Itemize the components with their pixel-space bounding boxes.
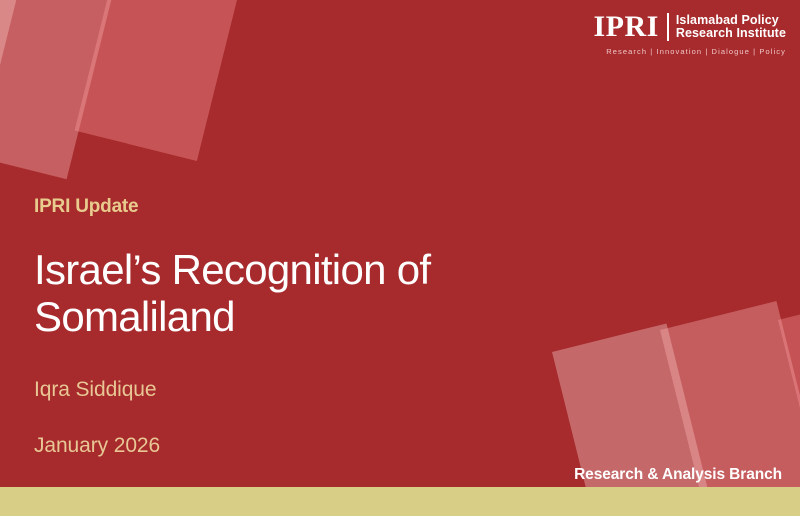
logo-institute-name-line2: Research Institute — [676, 27, 786, 40]
publication-date: January 2026 — [34, 434, 504, 458]
page-title: Israel’s Recognition of Somaliland — [34, 246, 504, 340]
publication-cover: IPRI Islamabad Policy Research Institute… — [0, 0, 800, 516]
logo-tagline: Research | Innovation | Dialogue | Polic… — [606, 47, 786, 56]
author-name: Iqra Siddique — [34, 378, 504, 402]
cover-content: IPRI Update Israel’s Recognition of Soma… — [34, 196, 504, 458]
series-kicker: IPRI Update — [34, 196, 504, 218]
decorative-band-top-left-2 — [0, 0, 146, 179]
branch-label: Research & Analysis Branch — [574, 466, 782, 484]
logo-wordmark: IPRI — [593, 12, 658, 42]
logo-main-row: IPRI Islamabad Policy Research Institute — [593, 12, 786, 42]
footer-strip — [0, 487, 800, 516]
logo-divider — [667, 13, 669, 41]
logo-institute-name: Islamabad Policy Research Institute — [676, 14, 786, 40]
ipri-logo: IPRI Islamabad Policy Research Institute… — [593, 12, 786, 56]
decorative-band-top-left-1 — [0, 0, 46, 199]
decorative-band-top-left-3 — [75, 0, 275, 161]
